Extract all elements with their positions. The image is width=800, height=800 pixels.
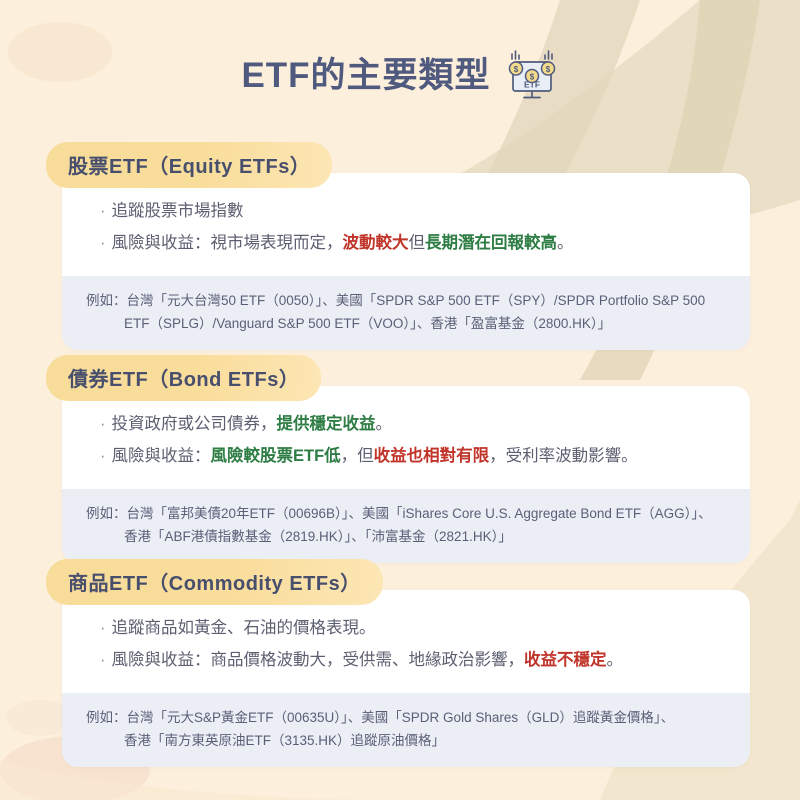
bullet-list-bond: 投資政府或公司債券，提供穩定收益。 風險與收益：風險較股票ETF低，但收益也相對… [62, 386, 750, 489]
bullet-item: 投資政府或公司債券，提供穩定收益。 [86, 412, 726, 438]
coin-center-icon: $ [525, 70, 538, 83]
coin-right-icon: $ [541, 62, 554, 75]
section-pill-equity[interactable]: 股票ETF（Equity ETFs） [46, 142, 332, 188]
section-equity-etf: 股票ETF（Equity ETFs） 追蹤股票市場指數 風險與收益：視市場表現而… [0, 142, 800, 350]
section-pill-commodity[interactable]: 商品ETF（Commodity ETFs） [46, 559, 383, 605]
infographic-page: ETF的主要類型 [0, 0, 800, 800]
example-line-1: 例如：台灣「元大台灣50 ETF（0050）」、美國「SPDR S&P 500 … [86, 293, 705, 308]
bullet-segment: 風險與收益：商品價格波動大，受供需、地緣政治影響， [112, 651, 525, 669]
bullet-list-commodity: 追蹤商品如黃金、石油的價格表現。 風險與收益：商品價格波動大，受供需、地緣政治影… [62, 590, 750, 693]
example-block-bond: 例如：台灣「富邦美債20年ETF（00696B）」、美國「iShares Cor… [62, 489, 750, 562]
bullet-segment: 追蹤股票市場指數 [112, 202, 244, 220]
page-title: ETF的主要類型 [241, 58, 490, 93]
bullet-segment: 。 [607, 651, 624, 669]
chart-bars-right-icon [545, 51, 552, 59]
page-title-row: ETF的主要類型 [0, 46, 800, 104]
bullet-segment: 收益也相對有限 [374, 447, 490, 465]
example-line-2: 香港「ABF港債指數基金（2819.HK）」、「沛富基金（2821.HK）」 [86, 525, 726, 548]
example-block-equity: 例如：台灣「元大台灣50 ETF（0050）」、美國「SPDR S&P 500 … [62, 276, 750, 349]
coin-left-icon: $ [509, 62, 522, 75]
section-card-bond: 投資政府或公司債券，提供穩定收益。 風險與收益：風險較股票ETF低，但收益也相對… [62, 386, 750, 563]
bullet-segment: 波動較大 [343, 234, 409, 252]
svg-text:$: $ [545, 65, 550, 74]
bullet-segment: 風險與收益：視市場表現而定， [112, 234, 343, 252]
section-card-equity: 追蹤股票市場指數 風險與收益：視市場表現而定，波動較大但長期潛在回報較高。 例如… [62, 173, 750, 350]
bullet-segment: ，但 [341, 447, 374, 465]
bullet-segment: 但 [409, 234, 426, 252]
bullet-segment: 追蹤商品如黃金、石油的價格表現。 [112, 619, 376, 637]
section-pill-bond[interactable]: 債券ETF（Bond ETFs） [46, 355, 321, 401]
example-line-2: 香港「南方東英原油ETF（3135.HK）追蹤原油價格」 [86, 729, 726, 752]
example-line-1: 例如：台灣「元大S&P黃金ETF（00635U）」、美國「SPDR Gold S… [86, 710, 674, 725]
bullet-item: 追蹤商品如黃金、石油的價格表現。 [86, 616, 726, 642]
example-line-1: 例如：台灣「富邦美債20年ETF（00696B）」、美國「iShares Cor… [86, 506, 712, 521]
bullet-segment: 風險與收益： [112, 447, 211, 465]
svg-text:$: $ [529, 73, 534, 82]
chart-bars-left-icon [512, 51, 519, 59]
bullet-item: 風險與收益：視市場表現而定，波動較大但長期潛在回報較高。 [86, 231, 726, 257]
bullet-segment: 。 [557, 234, 574, 252]
section-commodity-etf: 商品ETF（Commodity ETFs） 追蹤商品如黃金、石油的價格表現。 風… [0, 559, 800, 767]
bullet-item: 追蹤股票市場指數 [86, 199, 726, 225]
bullet-segment: 長期潛在回報較高 [425, 234, 557, 252]
example-line-2: ETF（SPLG）/Vanguard S&P 500 ETF（VOO）」、香港「… [86, 312, 726, 335]
bullet-segment: 風險較股票ETF低 [211, 447, 341, 465]
example-block-commodity: 例如：台灣「元大S&P黃金ETF（00635U）」、美國「SPDR Gold S… [62, 693, 750, 766]
bullet-list-equity: 追蹤股票市場指數 風險與收益：視市場表現而定，波動較大但長期潛在回報較高。 [62, 173, 750, 276]
bullet-segment: 。 [376, 415, 393, 433]
bullet-segment: 提供穩定收益 [277, 415, 376, 433]
etf-monitor-coins-icon: ETF $ $ $ [505, 46, 559, 104]
bullet-segment: 收益不穩定 [524, 651, 607, 669]
bullet-segment: 投資政府或公司債券， [112, 415, 277, 433]
bullet-item: 風險與收益：風險較股票ETF低，但收益也相對有限，受利率波動影響。 [86, 444, 726, 470]
bullet-segment: ，受利率波動影響。 [489, 447, 638, 465]
section-bond-etf: 債券ETF（Bond ETFs） 投資政府或公司債券，提供穩定收益。 風險與收益… [0, 355, 800, 563]
svg-text:$: $ [513, 65, 518, 74]
bullet-item: 風險與收益：商品價格波動大，受供需、地緣政治影響，收益不穩定。 [86, 648, 726, 674]
section-card-commodity: 追蹤商品如黃金、石油的價格表現。 風險與收益：商品價格波動大，受供需、地緣政治影… [62, 590, 750, 767]
